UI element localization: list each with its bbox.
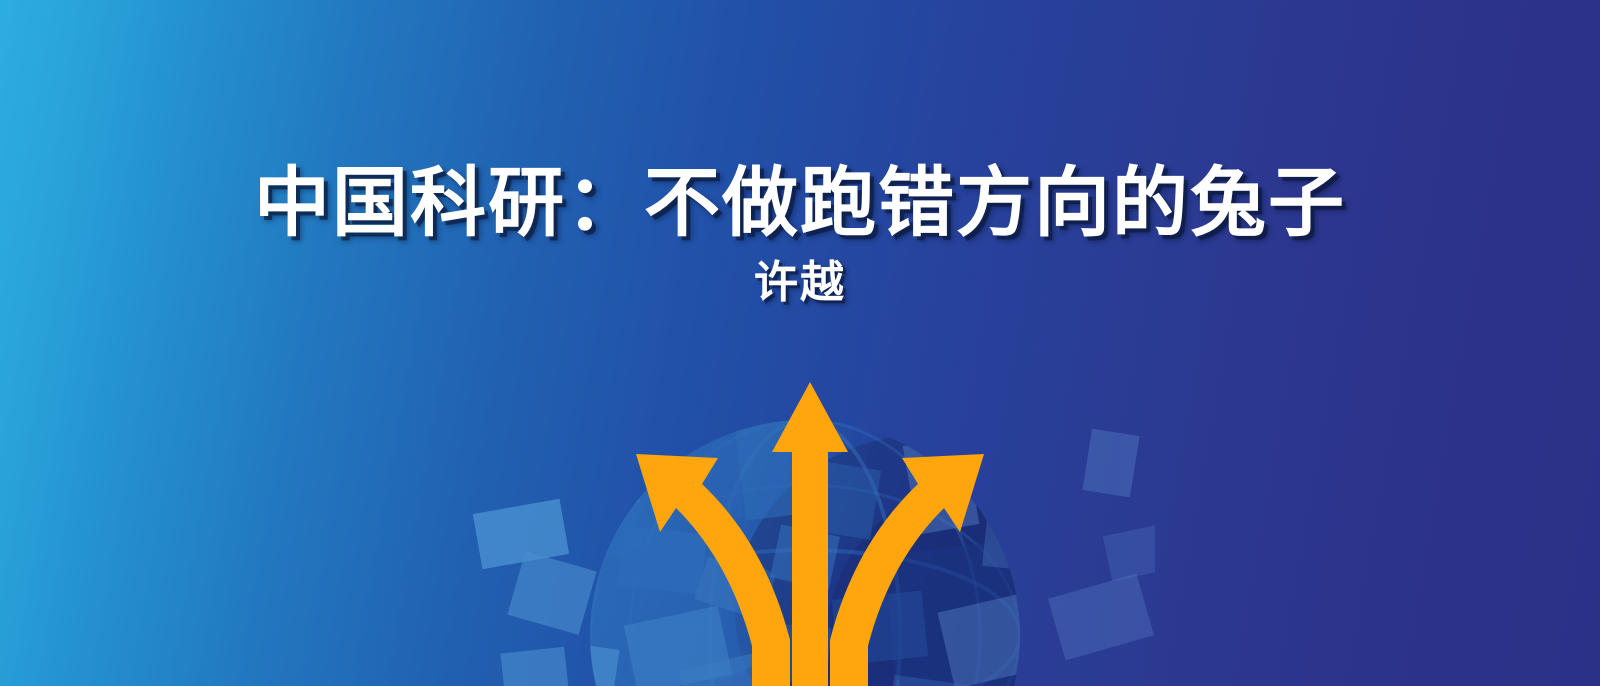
three-way-arrow-graphic	[600, 378, 1020, 686]
presentation-slide: 中国科研：不做跑错方向的兔子 许越	[0, 0, 1600, 686]
arrow-up-right	[830, 454, 984, 686]
arrow-up-left	[636, 454, 790, 686]
